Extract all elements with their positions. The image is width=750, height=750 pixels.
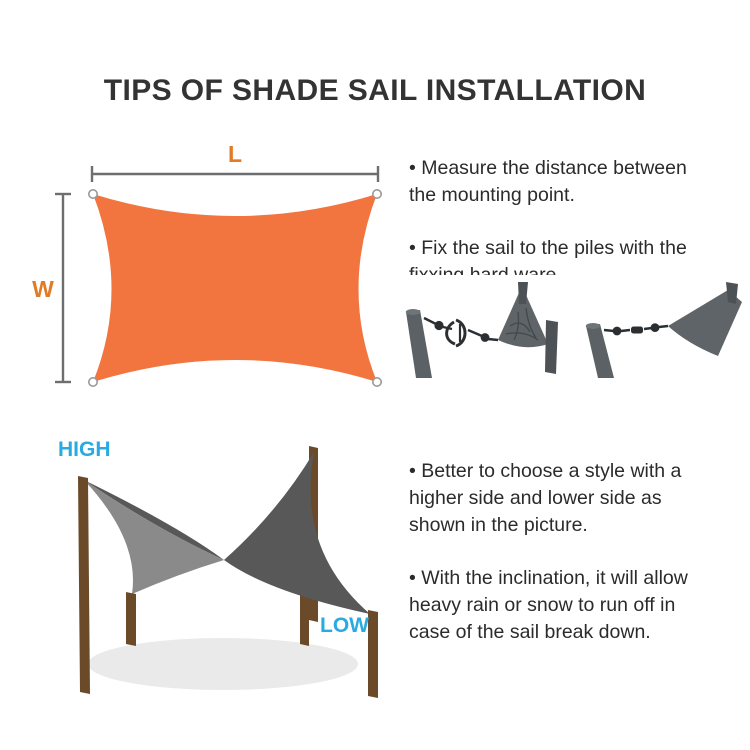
shade-sail-diagram: L W [30, 140, 405, 405]
tip-item: • With the inclination, it will allow he… [409, 565, 750, 646]
chain-icon [604, 324, 668, 334]
tip-line: higher side and lower side as [409, 485, 750, 512]
grommet-top-left [89, 190, 97, 198]
tip-line: • Fix the sail to the piles with the [409, 235, 750, 262]
grommet-bottom-left [89, 378, 97, 386]
infographic-page: TIPS OF SHADE SAIL INSTALLATION L W [0, 0, 750, 750]
post-icon [586, 324, 614, 378]
tip-line: • With the inclination, it will allow [409, 565, 750, 592]
length-label: L [228, 141, 242, 167]
inclined-canopy-diagram: HIGH LOW [28, 432, 413, 722]
fixing-hardware-illustrations [398, 282, 750, 378]
page-title: TIPS OF SHADE SAIL INSTALLATION [0, 74, 750, 108]
post-high-left [78, 476, 90, 694]
length-dimension-line [92, 166, 378, 182]
grommet-bottom-right [373, 378, 381, 386]
width-label: W [32, 276, 54, 302]
post-low-right [368, 610, 378, 698]
tip-line: the mounting point. [409, 182, 750, 209]
high-label: HIGH [58, 438, 111, 461]
post-front-left [126, 592, 136, 646]
canopy-sail-light [84, 480, 224, 594]
tip-line: shown in the picture. [409, 512, 750, 539]
sail-fabric [93, 194, 377, 382]
tips-bottom-list: • Better to choose a style with a higher… [409, 458, 750, 658]
turnbuckle-icon [424, 318, 498, 346]
width-dimension-line [55, 194, 71, 382]
tip-line: heavy rain or snow to run off in [409, 592, 750, 619]
tip-line: • Measure the distance between [409, 155, 750, 182]
grommet-top-right [373, 190, 381, 198]
tip-item: • Fix the sail to the piles with the fix… [409, 235, 750, 275]
tip-line: • Better to choose a style with a [409, 458, 750, 485]
low-label: LOW [320, 614, 369, 637]
ground-shadow [88, 638, 358, 690]
bracket-post-icon [545, 320, 558, 374]
hardware-assembly-right [586, 282, 742, 378]
tip-item: • Better to choose a style with a higher… [409, 458, 750, 539]
tip-line: fixxing hard ware. [409, 262, 750, 275]
tips-top-list: • Measure the distance between the mount… [409, 155, 750, 275]
tip-line: case of the sail break down. [409, 619, 750, 646]
tip-item: • Measure the distance between the mount… [409, 155, 750, 209]
hardware-assembly-left [406, 282, 558, 378]
